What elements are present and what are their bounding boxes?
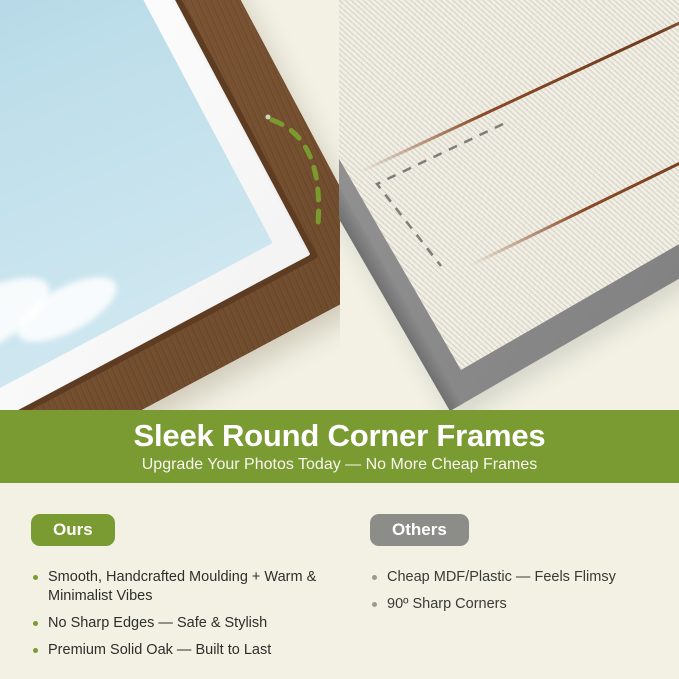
hero-photo-others xyxy=(339,0,679,410)
badge-others: Others xyxy=(370,514,469,546)
product-comparison-infographic: Sleek Round Corner Frames Upgrade Your P… xyxy=(0,0,679,679)
banner-title: Sleek Round Corner Frames xyxy=(134,420,546,451)
hero-photo-area xyxy=(0,0,679,410)
badge-ours: Ours xyxy=(31,514,115,546)
comparison-column-ours: Ours Smooth, Handcrafted Moulding + Warm… xyxy=(0,483,339,679)
list-item: Cheap MDF/Plastic — Feels Flimsy xyxy=(370,568,678,587)
banner-subtitle: Upgrade Your Photos Today — No More Chea… xyxy=(142,457,537,473)
comparison-column-others: Others Cheap MDF/Plastic — Feels Flimsy … xyxy=(339,483,678,679)
comparison-section: Ours Smooth, Handcrafted Moulding + Warm… xyxy=(0,483,679,679)
grey-frame-image xyxy=(339,0,679,410)
walnut-frame-image xyxy=(0,0,340,410)
hero-photo-ours xyxy=(0,0,340,410)
list-item: 90º Sharp Corners xyxy=(370,595,678,614)
list-item: Premium Solid Oak — Built to Last xyxy=(31,641,339,660)
linen-texture-panel xyxy=(339,0,679,370)
list-item: No Sharp Edges — Safe & Stylish xyxy=(31,614,339,633)
list-item: Smooth, Handcrafted Moulding + Warm & Mi… xyxy=(31,568,339,606)
headline-banner: Sleek Round Corner Frames Upgrade Your P… xyxy=(0,410,679,483)
linen-accent-line xyxy=(339,0,679,17)
linen-accent-line xyxy=(359,0,679,174)
ours-feature-list: Smooth, Handcrafted Moulding + Warm & Mi… xyxy=(31,568,339,661)
linen-accent-line xyxy=(470,45,679,267)
others-feature-list: Cheap MDF/Plastic — Feels Flimsy 90º Sha… xyxy=(370,568,678,614)
